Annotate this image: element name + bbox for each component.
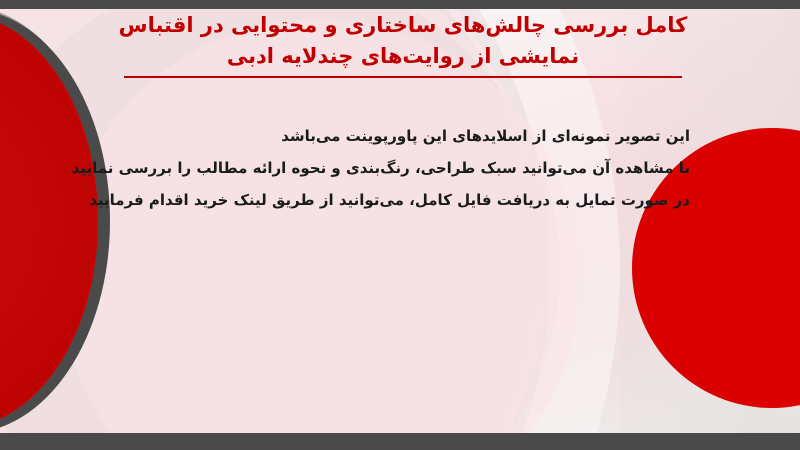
- slide-title-line-1: کامل بررسی چالش‌های ساختاری و محتوایی در…: [110, 10, 696, 41]
- slide-title-line-2: نمایشی از روایت‌های چندلایه ادبی: [110, 41, 696, 72]
- presentation-slide: کامل بررسی چالش‌های ساختاری و محتوایی در…: [0, 0, 800, 450]
- background-band-7: [60, 19, 580, 433]
- title-underline-rule: [124, 76, 682, 78]
- slide-title: کامل بررسی چالش‌های ساختاری و محتوایی در…: [110, 10, 696, 78]
- slide-body-text: این تصویر نمونه‌ای از اسلایدهای این پاور…: [120, 120, 690, 216]
- body-line-3: در صورت تمایل به دریافت فایل کامل، می‌تو…: [120, 184, 690, 216]
- body-line-2: با مشاهده آن می‌توانید سبک طراحی، رنگ‌بن…: [120, 152, 690, 184]
- bottom-dark-bar: [0, 433, 800, 450]
- body-line-1: این تصویر نمونه‌ای از اسلایدهای این پاور…: [120, 120, 690, 152]
- top-dark-bar: [0, 0, 800, 9]
